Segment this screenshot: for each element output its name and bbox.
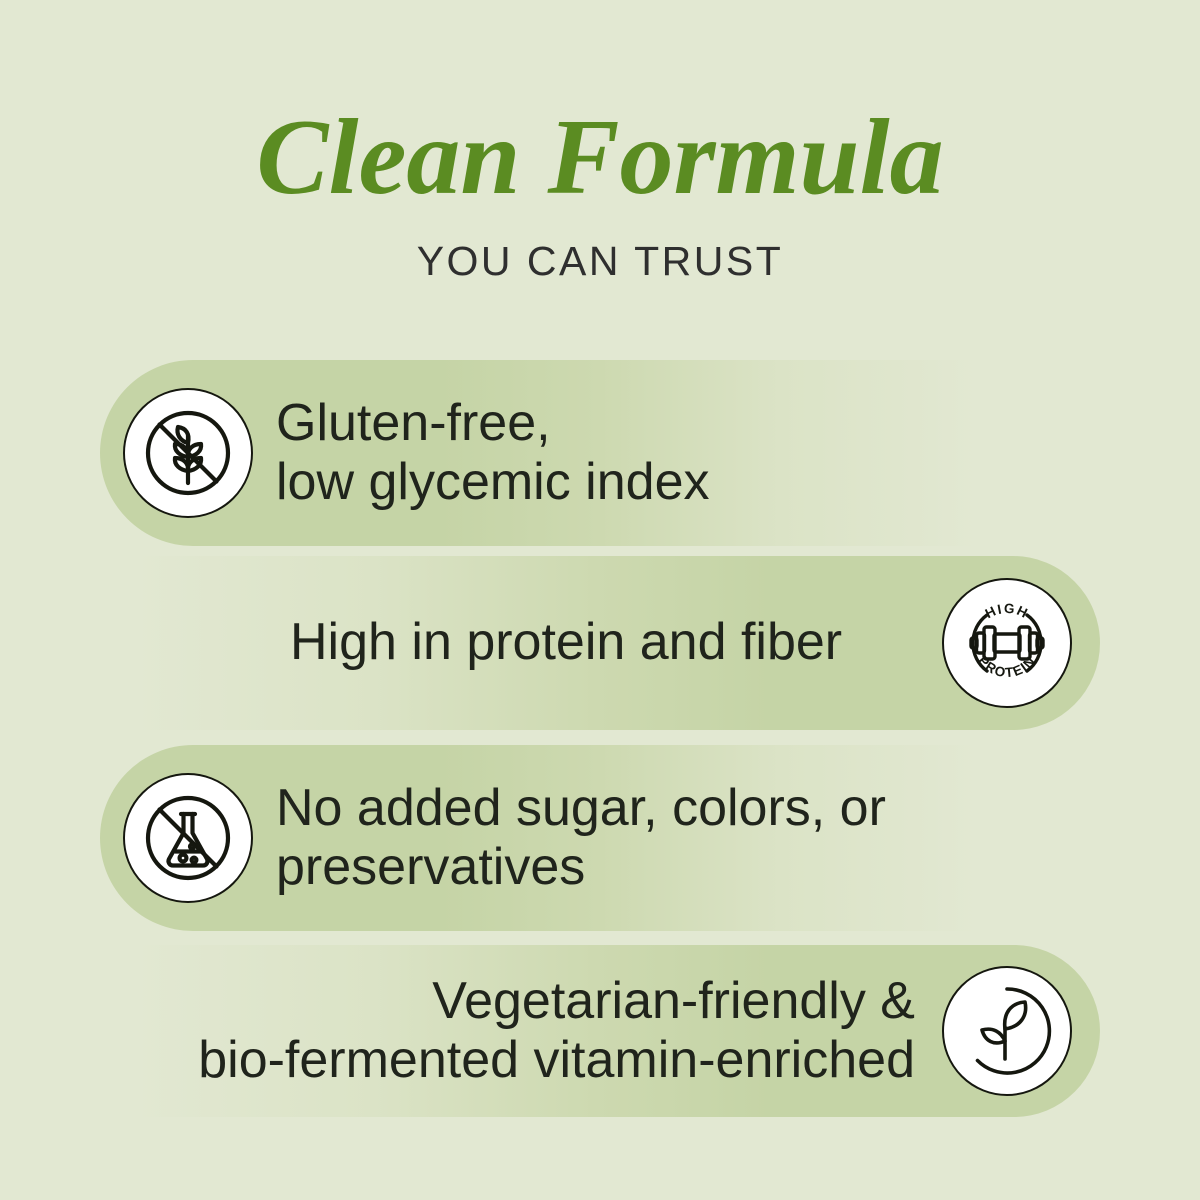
no-gluten-wheat-icon [123, 388, 253, 518]
feature-row-vegetarian: Vegetarian-friendly & bio-fermented vita… [0, 945, 1100, 1117]
badge-text-top: HIGH [983, 601, 1032, 622]
high-protein-dumbbell-badge-icon: HIGH PROTEIN [942, 578, 1072, 708]
feature-label: Vegetarian-friendly & bio-fermented vita… [60, 972, 915, 1091]
no-chemicals-flask-icon [123, 773, 253, 903]
feature-row-high-protein: HIGH PROTEIN High in protein and fiber [0, 556, 1100, 730]
feature-row-no-additives: No added sugar, colors, or preservatives [100, 745, 1100, 931]
badge-text-bottom: PROTEIN [975, 653, 1039, 680]
feature-label: High in protein and fiber [290, 613, 842, 672]
svg-text:PROTEIN: PROTEIN [975, 653, 1039, 680]
feature-list: Gluten-free, low glycemic index [0, 0, 1200, 1200]
sprout-leaf-icon [942, 966, 1072, 1096]
feature-label: No added sugar, colors, or preservatives [276, 779, 886, 898]
svg-text:HIGH: HIGH [983, 601, 1032, 622]
feature-label: Gluten-free, low glycemic index [276, 394, 710, 513]
feature-row-gluten-free: Gluten-free, low glycemic index [100, 360, 1100, 546]
